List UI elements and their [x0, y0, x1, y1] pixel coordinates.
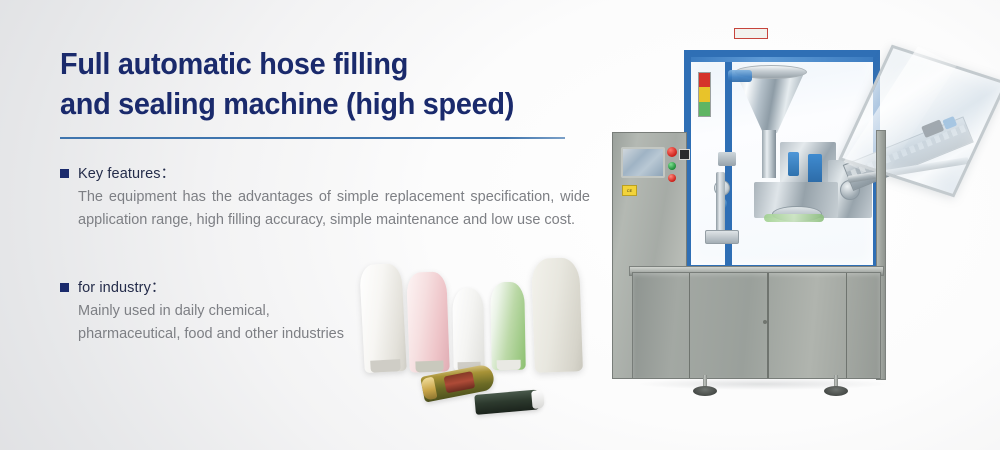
ce-label: CE	[622, 185, 637, 196]
tube-holder	[705, 230, 739, 244]
feature-heading: for industry：	[78, 276, 166, 297]
pink-cosmetic-tube	[406, 271, 449, 372]
text-column: Full automatic hose filling and sealing …	[60, 44, 580, 123]
black-selector-switch[interactable]	[679, 149, 690, 160]
machine-shadow	[638, 378, 886, 390]
tube-samples-image	[345, 252, 605, 424]
feature-body: Mainly used in daily chemical, pharmaceu…	[78, 300, 360, 347]
filling-pipe	[762, 130, 776, 178]
feature-body: The equipment has the advantages of simp…	[78, 186, 590, 233]
stack-light-tower	[698, 72, 711, 117]
square-bullet-icon	[60, 283, 69, 292]
pressure-module	[718, 152, 736, 166]
product-banner: Full automatic hose filling and sealing …	[0, 0, 1000, 450]
green-sunplay-tube	[490, 282, 526, 371]
square-bullet-icon	[60, 169, 69, 178]
page-title: Full automatic hose filling and sealing …	[60, 44, 544, 123]
white-cosmetic-tube	[359, 263, 407, 373]
cabinet-door[interactable]	[767, 273, 847, 378]
cabinet-lock-icon[interactable]	[763, 320, 767, 324]
warning-label	[734, 28, 768, 39]
vertical-rod	[716, 172, 725, 234]
dark-green-tube	[474, 389, 543, 415]
hmi-touchscreen[interactable]	[621, 147, 665, 178]
feature-heading-row: Key features：	[60, 162, 590, 183]
machine-foot	[824, 386, 848, 396]
feature-heading: Key features：	[78, 162, 175, 183]
cabinet-door[interactable]	[689, 273, 769, 378]
feature-key-features: Key features： The equipment has the adva…	[60, 162, 590, 233]
feature-for-industry: for industry： Mainly used in daily chemi…	[60, 276, 360, 347]
title-divider	[60, 137, 565, 139]
green-start-button[interactable]	[668, 162, 676, 170]
feature-heading-row: for industry：	[60, 276, 360, 297]
hopper-collar	[728, 70, 752, 82]
green-guide-ring	[764, 214, 824, 222]
large-beige-tube	[531, 257, 583, 373]
sensor-block	[788, 152, 799, 176]
frame-top-bar	[691, 57, 873, 62]
small-white-pharma-tube	[452, 288, 484, 372]
machine-foot	[693, 386, 717, 396]
emergency-stop-button[interactable]	[667, 147, 677, 157]
lower-cabinet	[632, 272, 881, 379]
red-stop-button[interactable]	[668, 174, 676, 182]
hose-filling-sealing-machine-image: CE	[612, 34, 992, 414]
sealing-unit	[808, 154, 822, 184]
